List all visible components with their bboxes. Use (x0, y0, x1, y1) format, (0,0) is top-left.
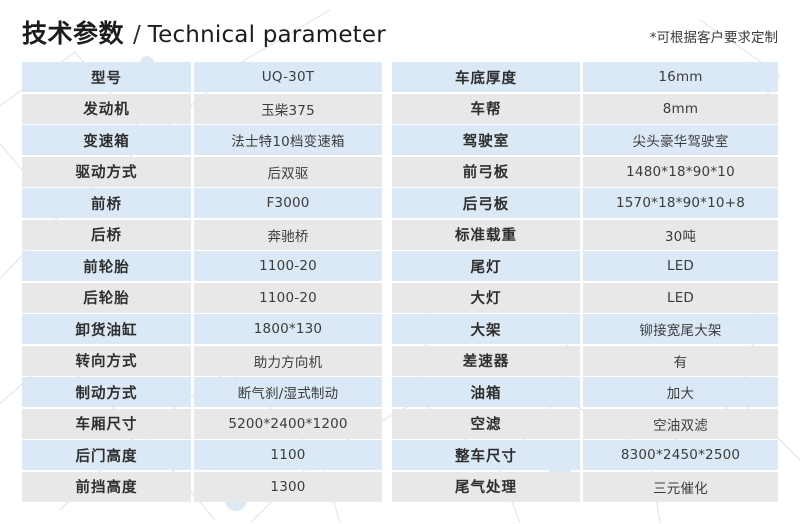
table-row: 大灯LED (392, 283, 778, 315)
spec-value-cell: 有 (583, 346, 778, 376)
table-row: 尾灯LED (392, 251, 778, 283)
table-row: 尾气处理三元催化 (392, 472, 778, 504)
spec-label-cell: 标准载重 (392, 220, 580, 250)
spec-label-cell: 后门高度 (22, 440, 191, 470)
spec-value-cell: 助力方向机 (194, 346, 382, 376)
table-row: 前桥F3000 (22, 188, 382, 220)
spec-label-cell: 后轮胎 (22, 283, 191, 313)
page-title-separator: / (133, 22, 141, 48)
table-row: 整车尺寸8300*2450*2500 (392, 440, 778, 472)
spec-value-cell: 加大 (583, 377, 778, 407)
spec-label-cell: 大架 (392, 314, 580, 344)
spec-value-cell: 玉柴375 (194, 94, 382, 124)
spec-value-cell: 5200*2400*1200 (194, 409, 382, 439)
spec-value-cell: LED (583, 251, 778, 281)
spec-value-cell: UQ-30T (194, 62, 382, 92)
table-row: 卸货油缸1800*130 (22, 314, 382, 346)
spec-label-cell: 车帮 (392, 94, 580, 124)
table-row: 发动机玉柴375 (22, 94, 382, 126)
spec-label-cell: 发动机 (22, 94, 191, 124)
table-row: 驱动方式后双驱 (22, 157, 382, 189)
table-row: 大架铆接宽尾大架 (392, 314, 778, 346)
spec-value-cell: 空油双滤 (583, 409, 778, 439)
spec-label-cell: 转向方式 (22, 346, 191, 376)
spec-label-cell: 车底厚度 (392, 62, 580, 92)
table-row: 转向方式助力方向机 (22, 346, 382, 378)
spec-value-cell: LED (583, 283, 778, 313)
spec-value-cell: 尖头豪华驾驶室 (583, 125, 778, 155)
spec-value-cell: 16mm (583, 62, 778, 92)
spec-label-cell: 尾气处理 (392, 472, 580, 502)
spec-value-cell: 铆接宽尾大架 (583, 314, 778, 344)
spec-tables-container: 型号UQ-30T发动机玉柴375变速箱法士特10档变速箱驱动方式后双驱前桥F30… (22, 62, 778, 503)
spec-value-cell: 1480*18*90*10 (583, 157, 778, 187)
spec-label-cell: 变速箱 (22, 125, 191, 155)
spec-label-cell: 前弓板 (392, 157, 580, 187)
spec-label-cell: 后桥 (22, 220, 191, 250)
spec-table-right: 车底厚度16mm车帮8mm驾驶室尖头豪华驾驶室前弓板1480*18*90*10后… (392, 62, 778, 503)
table-row: 后门高度1100 (22, 440, 382, 472)
spec-value-cell: 奔驰桥 (194, 220, 382, 250)
spec-value-cell: 后双驱 (194, 157, 382, 187)
table-row: 后轮胎1100-20 (22, 283, 382, 315)
spec-value-cell: 断气刹/湿式制动 (194, 377, 382, 407)
spec-label-cell: 大灯 (392, 283, 580, 313)
table-row: 差速器有 (392, 346, 778, 378)
spec-label-cell: 型号 (22, 62, 191, 92)
spec-value-cell: 1100-20 (194, 283, 382, 313)
customization-note: *可根据客户要求定制 (650, 26, 778, 46)
spec-label-cell: 前桥 (22, 188, 191, 218)
table-row: 后弓板1570*18*90*10+8 (392, 188, 778, 220)
spec-table-left: 型号UQ-30T发动机玉柴375变速箱法士特10档变速箱驱动方式后双驱前桥F30… (22, 62, 382, 503)
spec-label-cell: 车厢尺寸 (22, 409, 191, 439)
spec-label-cell: 油箱 (392, 377, 580, 407)
spec-label-cell: 制动方式 (22, 377, 191, 407)
spec-label-cell: 差速器 (392, 346, 580, 376)
page-header: 技术参数 / Technical parameter *可根据客户要求定制 (22, 14, 778, 54)
spec-value-cell: F3000 (194, 188, 382, 218)
table-row: 驾驶室尖头豪华驾驶室 (392, 125, 778, 157)
spec-value-cell: 法士特10档变速箱 (194, 125, 382, 155)
table-row: 型号UQ-30T (22, 62, 382, 94)
spec-value-cell: 8mm (583, 94, 778, 124)
table-row: 变速箱法士特10档变速箱 (22, 125, 382, 157)
spec-value-cell: 1100-20 (194, 251, 382, 281)
spec-label-cell: 驱动方式 (22, 157, 191, 187)
spec-value-cell: 8300*2450*2500 (583, 440, 778, 470)
spec-value-cell: 三元催化 (583, 472, 778, 502)
table-row: 前挡高度1300 (22, 472, 382, 504)
table-row: 前弓板1480*18*90*10 (392, 157, 778, 189)
table-row: 车底厚度16mm (392, 62, 778, 94)
spec-label-cell: 卸货油缸 (22, 314, 191, 344)
spec-value-cell: 1800*130 (194, 314, 382, 344)
spec-value-cell: 30吨 (583, 220, 778, 250)
table-row: 车厢尺寸5200*2400*1200 (22, 409, 382, 441)
table-row: 后桥奔驰桥 (22, 220, 382, 252)
spec-value-cell: 1100 (194, 440, 382, 470)
spec-label-cell: 驾驶室 (392, 125, 580, 155)
page-root: 技术参数 / Technical parameter *可根据客户要求定制 型号… (0, 0, 800, 524)
table-row: 标准载重30吨 (392, 220, 778, 252)
table-row: 空滤空油双滤 (392, 409, 778, 441)
spec-label-cell: 尾灯 (392, 251, 580, 281)
table-row: 前轮胎1100-20 (22, 251, 382, 283)
page-title-chinese: 技术参数 (22, 14, 124, 50)
spec-label-cell: 前轮胎 (22, 251, 191, 281)
spec-label-cell: 前挡高度 (22, 472, 191, 502)
table-row: 制动方式断气刹/湿式制动 (22, 377, 382, 409)
table-row: 油箱加大 (392, 377, 778, 409)
page-title: 技术参数 / Technical parameter (22, 14, 386, 50)
spec-value-cell: 1570*18*90*10+8 (583, 188, 778, 218)
spec-label-cell: 整车尺寸 (392, 440, 580, 470)
page-title-english: Technical parameter (148, 22, 386, 48)
spec-label-cell: 空滤 (392, 409, 580, 439)
spec-value-cell: 1300 (194, 472, 382, 502)
spec-label-cell: 后弓板 (392, 188, 580, 218)
table-row: 车帮8mm (392, 94, 778, 126)
